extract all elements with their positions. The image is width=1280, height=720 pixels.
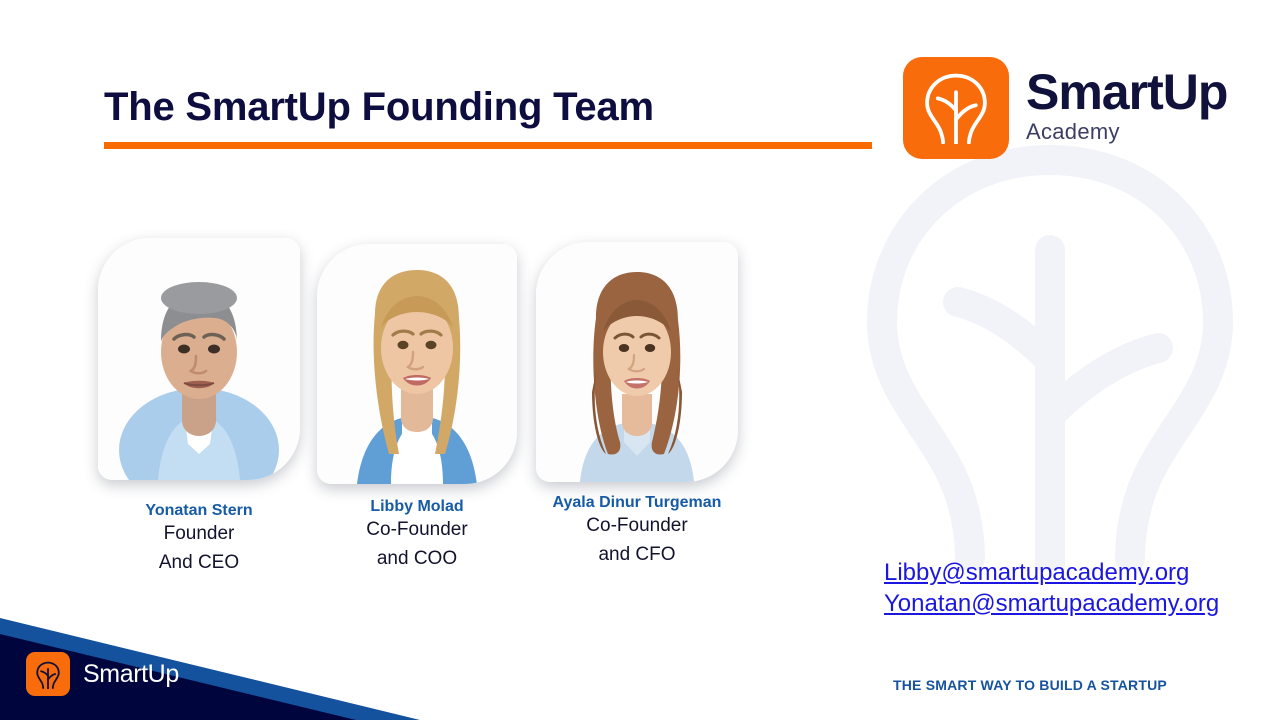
brand-logo-tile bbox=[903, 57, 1009, 159]
portrait-ayala-dinur-turgeman bbox=[536, 242, 738, 482]
member-role-line2: And CEO bbox=[159, 549, 239, 578]
footer-banner: SmartUp bbox=[0, 600, 420, 720]
tree-bulb-icon bbox=[33, 659, 63, 689]
watermark-logo bbox=[840, 130, 1260, 570]
portrait-libby-molad bbox=[317, 244, 517, 484]
brand-name: SmartUp bbox=[1026, 69, 1227, 117]
footer-logo-name: SmartUp bbox=[83, 660, 179, 689]
member-role-line1: Founder bbox=[164, 520, 235, 549]
team-list: Yonatan Stern Founder And CEO bbox=[98, 238, 738, 578]
footer-logo: SmartUp bbox=[26, 652, 179, 696]
team-member-card: Ayala Dinur Turgeman Co-Founder and CFO bbox=[536, 238, 738, 578]
portrait-yonatan-stern bbox=[98, 238, 300, 480]
brand-wordmark: SmartUp Academy bbox=[1026, 57, 1227, 145]
page-title: The SmartUp Founding Team bbox=[104, 86, 872, 128]
member-role-line1: Co-Founder bbox=[586, 512, 687, 541]
team-member-card: Libby Molad Co-Founder and COO bbox=[317, 238, 517, 578]
brand-header: SmartUp Academy bbox=[903, 57, 1227, 159]
footer-logo-tile bbox=[26, 652, 70, 696]
member-name: Libby Molad bbox=[370, 498, 463, 516]
tree-bulb-icon bbox=[918, 68, 994, 149]
member-name: Ayala Dinur Turgeman bbox=[553, 494, 722, 512]
title-underline-rule bbox=[104, 142, 872, 149]
contact-emails: Libby@smartupacademy.org Yonatan@smartup… bbox=[884, 558, 1219, 619]
brand-subtitle: Academy bbox=[1026, 119, 1227, 145]
footer-tagline: THE SMART WAY TO BUILD A STARTUP bbox=[893, 677, 1167, 693]
member-role-line2: and COO bbox=[377, 545, 457, 574]
team-member-card: Yonatan Stern Founder And CEO bbox=[98, 238, 300, 578]
email-link-yonatan[interactable]: Yonatan@smartupacademy.org bbox=[884, 589, 1219, 620]
member-role-line1: Co-Founder bbox=[366, 516, 467, 545]
member-name: Yonatan Stern bbox=[145, 502, 252, 520]
email-link-libby[interactable]: Libby@smartupacademy.org bbox=[884, 558, 1219, 589]
member-role-line2: and CFO bbox=[598, 541, 675, 570]
title-block: The SmartUp Founding Team bbox=[104, 86, 872, 149]
